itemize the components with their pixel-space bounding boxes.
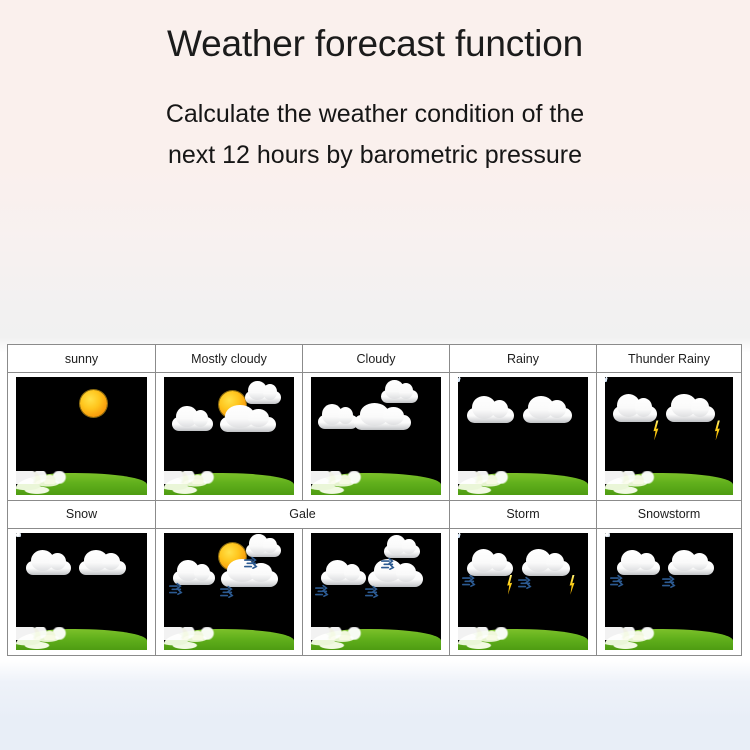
- label-cloudy: Cloudy: [302, 345, 449, 372]
- label-snowstorm: Snowstorm: [596, 501, 741, 528]
- label-thunder-rainy: Thunder Rainy: [596, 345, 741, 372]
- scene-rainy: [458, 377, 588, 495]
- cell-cloudy: [302, 373, 449, 500]
- cloud-icon: [220, 417, 276, 432]
- cloud-icon: [381, 390, 417, 403]
- cloud-icon: [467, 408, 514, 423]
- scene-snowstorm: [605, 533, 733, 651]
- cloud-icon: [666, 406, 715, 421]
- lightning-icon: [506, 575, 513, 595]
- cloud-icon: [522, 561, 570, 576]
- label-storm: Storm: [449, 501, 596, 528]
- cloud-icon: [172, 417, 214, 431]
- sun-icon: [80, 390, 107, 417]
- scene-snow: [16, 533, 147, 651]
- wind-icon: [609, 574, 624, 587]
- weather-forecast-page: Weather forecast function Calculate the …: [0, 0, 750, 750]
- cell-rainy: [449, 373, 596, 500]
- label-mostly-cloudy: Mostly cloudy: [155, 345, 302, 372]
- cell-gale-sunny: [155, 529, 302, 656]
- wind-icon: [219, 585, 234, 598]
- lightning-icon: [714, 420, 721, 440]
- grass-strip: [458, 473, 588, 494]
- page-subtitle: Calculate the weather condition of the n…: [75, 66, 675, 175]
- label-gale: Gale: [155, 501, 449, 528]
- scene-mostly-cloudy: [164, 377, 294, 495]
- grass-strip: [164, 473, 294, 494]
- wind-icon: [168, 582, 183, 595]
- row-2-labels: Snow Gale Storm Snowstorm: [8, 501, 741, 529]
- row-2-images: [8, 529, 741, 656]
- cell-thunder-rainy: [596, 373, 741, 500]
- lightning-icon: [569, 575, 576, 595]
- table-row: Snow Gale Storm Snowstorm: [8, 500, 741, 656]
- scene-cloudy: [311, 377, 441, 495]
- wind-icon: [243, 556, 258, 569]
- cloud-icon: [354, 415, 411, 430]
- table-row: sunny Mostly cloudy Cloudy Rainy Thunder…: [8, 345, 741, 500]
- cloud-icon: [668, 561, 714, 575]
- grass-strip: [605, 629, 733, 650]
- scene-storm: [458, 533, 588, 651]
- cell-snow: [8, 529, 155, 656]
- scene-gale-sunny: [164, 533, 294, 651]
- cloud-icon: [79, 561, 126, 575]
- cloud-icon: [245, 391, 281, 404]
- wind-icon: [517, 576, 532, 589]
- cell-snowstorm: [596, 529, 741, 656]
- scene-sunny: [16, 377, 147, 495]
- cell-storm: [449, 529, 596, 656]
- grass-strip: [458, 629, 588, 650]
- page-title: Weather forecast function: [0, 0, 750, 66]
- cloud-icon: [613, 406, 658, 421]
- grass-strip: [311, 473, 441, 494]
- grass-strip: [164, 629, 294, 650]
- subtitle-line-1: Calculate the weather condition of the: [75, 94, 675, 135]
- cell-sunny: [8, 373, 155, 500]
- row-1-images: [8, 373, 741, 500]
- cloud-icon: [26, 561, 71, 575]
- cloud-icon: [318, 415, 358, 429]
- row-1-labels: sunny Mostly cloudy Cloudy Rainy Thunder…: [8, 345, 741, 373]
- wind-icon: [380, 557, 395, 570]
- grass-strip: [16, 473, 147, 494]
- subtitle-line-2: next 12 hours by barometric pressure: [75, 135, 675, 176]
- wind-icon: [364, 585, 379, 598]
- cloud-icon: [221, 571, 278, 586]
- hero-section: Weather forecast function Calculate the …: [0, 0, 750, 175]
- cloud-icon: [368, 571, 423, 586]
- wind-icon: [461, 574, 476, 587]
- label-sunny: sunny: [8, 345, 155, 372]
- label-snow: Snow: [8, 501, 155, 528]
- grass-strip: [605, 473, 733, 494]
- cell-gale-cloudy: [302, 529, 449, 656]
- label-rainy: Rainy: [449, 345, 596, 372]
- scene-gale-cloudy: [311, 533, 441, 651]
- weather-condition-table: sunny Mostly cloudy Cloudy Rainy Thunder…: [7, 344, 742, 656]
- wind-icon: [314, 584, 329, 597]
- grass-strip: [311, 629, 441, 650]
- wind-icon: [661, 575, 676, 588]
- scene-thunder-rainy: [605, 377, 733, 495]
- lightning-icon: [652, 420, 659, 440]
- cell-mostly-cloudy: [155, 373, 302, 500]
- grass-strip: [16, 629, 147, 650]
- cloud-icon: [523, 408, 572, 423]
